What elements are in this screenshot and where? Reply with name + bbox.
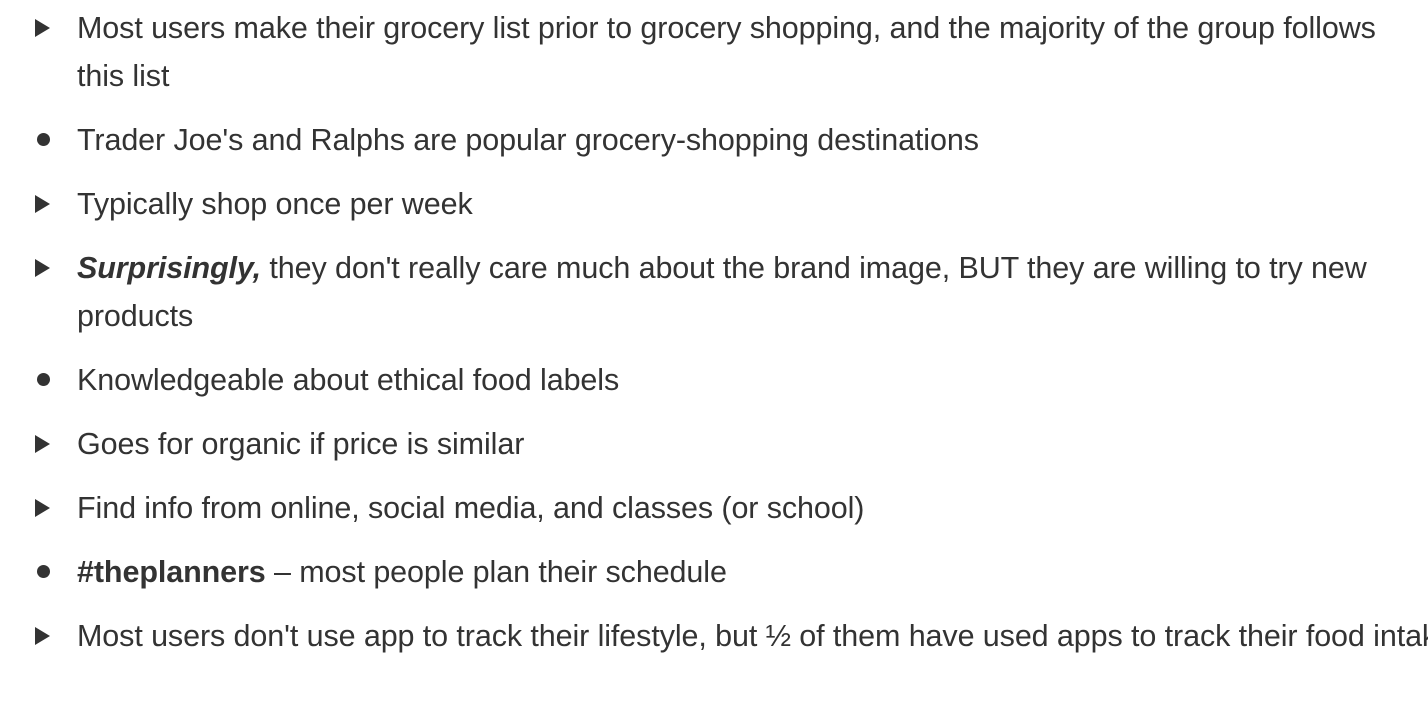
list-item-text: Most users make their grocery list prior… bbox=[77, 11, 1376, 93]
triangle-marker bbox=[0, 484, 77, 532]
list-item-text: Knowledgeable about ethical food labels bbox=[77, 363, 619, 397]
triangle-marker bbox=[0, 4, 77, 52]
list-item: #theplanners – most people plan their sc… bbox=[0, 548, 1428, 596]
triangle-marker bbox=[0, 420, 77, 468]
triangle-bullet-icon bbox=[35, 19, 50, 37]
list-item: Surprisingly, they don't really care muc… bbox=[0, 244, 1428, 340]
triangle-bullet-icon bbox=[35, 627, 50, 645]
list-item-emphasis: Surprisingly, bbox=[77, 251, 261, 285]
list-item: Typically shop once per week bbox=[0, 180, 1428, 228]
bullet-list: Most users make their grocery list prior… bbox=[0, 4, 1428, 660]
triangle-marker bbox=[0, 244, 77, 292]
list-item-text: Find info from online, social media, and… bbox=[77, 491, 864, 525]
list-item-text: Typically shop once per week bbox=[77, 187, 473, 221]
list-item: Goes for organic if price is similar bbox=[0, 420, 1428, 468]
list-item-text: Most users don't use app to track their … bbox=[77, 619, 1428, 653]
list-item: Knowledgeable about ethical food labels bbox=[0, 356, 1428, 404]
list-item: Trader Joe's and Ralphs are popular groc… bbox=[0, 116, 1428, 164]
triangle-bullet-icon bbox=[35, 435, 50, 453]
list-item: Most users make their grocery list prior… bbox=[0, 4, 1428, 100]
triangle-bullet-icon bbox=[35, 195, 50, 213]
triangle-bullet-icon bbox=[35, 259, 50, 277]
list-item-text: – most people plan their schedule bbox=[266, 555, 727, 589]
list-item-text: they don't really care much about the br… bbox=[77, 251, 1367, 333]
list-item: Most users don't use app to track their … bbox=[0, 612, 1428, 660]
list-item-emphasis: #theplanners bbox=[77, 555, 266, 589]
list-item: Find info from online, social media, and… bbox=[0, 484, 1428, 532]
circle-marker bbox=[0, 548, 77, 596]
circle-bullet-icon bbox=[37, 133, 50, 146]
circle-marker bbox=[0, 356, 77, 404]
circle-bullet-icon bbox=[37, 373, 50, 386]
circle-bullet-icon bbox=[37, 565, 50, 578]
circle-marker bbox=[0, 116, 77, 164]
triangle-bullet-icon bbox=[35, 499, 50, 517]
list-item-text: Trader Joe's and Ralphs are popular groc… bbox=[77, 123, 979, 157]
triangle-marker bbox=[0, 180, 77, 228]
triangle-marker bbox=[0, 612, 77, 660]
list-item-text: Goes for organic if price is similar bbox=[77, 427, 524, 461]
